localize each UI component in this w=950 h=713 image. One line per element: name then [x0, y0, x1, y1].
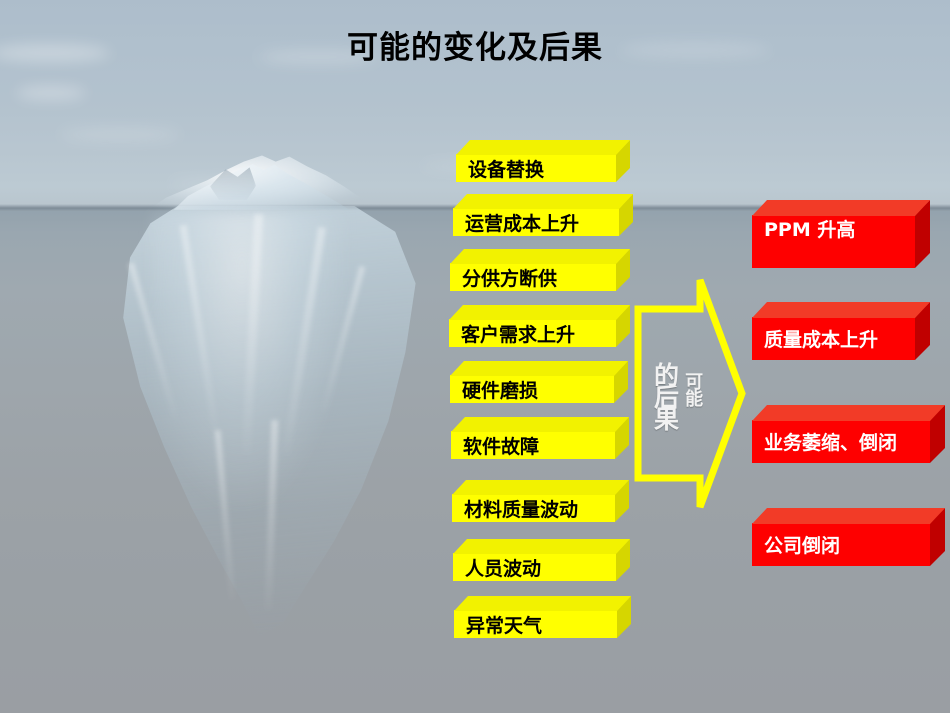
- consequence-box[interactable]: 公司倒闭: [752, 508, 930, 566]
- cause-box-front-face: 分供方断供: [450, 263, 616, 291]
- cause-box-front-face: 软件故障: [451, 431, 615, 459]
- cause-box-top-face: [450, 361, 628, 376]
- cause-box[interactable]: 分供方断供: [450, 249, 616, 291]
- cause-box-label: 人员波动: [453, 554, 541, 581]
- cause-box-label: 客户需求上升: [449, 320, 575, 347]
- consequence-box-front-face: 公司倒闭: [752, 523, 930, 566]
- cause-box[interactable]: 设备替换: [456, 140, 616, 182]
- cause-box-front-face: 运营成本上升: [453, 208, 619, 236]
- cause-box[interactable]: 硬件磨损: [450, 361, 614, 403]
- arrow-label-main: 的后果: [655, 362, 675, 428]
- consequence-box-label: PPM 升高: [752, 221, 864, 240]
- consequence-box[interactable]: 业务萎缩、倒闭: [752, 405, 930, 463]
- cause-box-top-face: [454, 596, 631, 611]
- cause-box[interactable]: 运营成本上升: [453, 194, 619, 236]
- consequence-box-top-face: [752, 405, 945, 421]
- consequence-box-front-face: 质量成本上升: [752, 317, 915, 360]
- cause-box-top-face: [449, 305, 630, 320]
- consequence-box[interactable]: 质量成本上升: [752, 302, 915, 360]
- cause-box[interactable]: 材料质量波动: [452, 480, 615, 522]
- cause-box-label: 材料质量波动: [452, 495, 578, 522]
- cause-box-label: 设备替换: [456, 155, 544, 182]
- cause-box-top-face: [453, 194, 633, 209]
- cause-box[interactable]: 客户需求上升: [449, 305, 616, 347]
- cause-box-top-face: [456, 140, 630, 155]
- consequence-box-top-face: [752, 302, 930, 318]
- cause-box-label: 运营成本上升: [453, 209, 579, 236]
- consequence-arrow: 的后果 可能: [634, 276, 746, 511]
- page-title: 可能的变化及后果: [0, 30, 950, 67]
- cause-box-front-face: 设备替换: [456, 154, 616, 182]
- cause-box-label: 分供方断供: [450, 264, 557, 291]
- cause-box-label: 异常天气: [454, 611, 542, 638]
- cause-box-label: 软件故障: [451, 432, 539, 459]
- cause-box[interactable]: 异常天气: [454, 596, 617, 638]
- consequence-box[interactable]: PPM 升高: [752, 200, 915, 268]
- cause-box-front-face: 客户需求上升: [449, 319, 616, 347]
- cause-box-top-face: [453, 539, 630, 554]
- cause-box-top-face: [451, 417, 629, 432]
- cause-box-front-face: 人员波动: [453, 553, 616, 581]
- arrow-label-sub: 可能: [684, 372, 701, 406]
- slide-canvas: 可能的变化及后果 设备替换运营成本上升分供方断供客户需求上升硬件磨损软件故障材料…: [0, 0, 950, 713]
- cloud-shape: [60, 128, 180, 141]
- cause-box[interactable]: 软件故障: [451, 417, 615, 459]
- cause-box-top-face: [450, 249, 630, 264]
- cloud-shape: [16, 86, 86, 100]
- consequence-box-top-face: [752, 508, 945, 524]
- consequence-box-label: 质量成本上升: [752, 325, 878, 352]
- consequence-box-top-face: [752, 200, 930, 216]
- cause-box-label: 硬件磨损: [450, 376, 538, 403]
- cause-box[interactable]: 人员波动: [453, 539, 616, 581]
- cause-box-front-face: 材料质量波动: [452, 494, 615, 522]
- cause-box-front-face: 硬件磨损: [450, 375, 614, 403]
- consequence-box-front-face: PPM 升高: [752, 215, 915, 268]
- consequence-box-label: 业务萎缩、倒闭: [752, 428, 897, 455]
- consequence-box-label: 公司倒闭: [752, 531, 840, 558]
- cause-box-top-face: [452, 480, 629, 495]
- consequence-box-front-face: 业务萎缩、倒闭: [752, 420, 930, 463]
- cause-box-front-face: 异常天气: [454, 610, 617, 638]
